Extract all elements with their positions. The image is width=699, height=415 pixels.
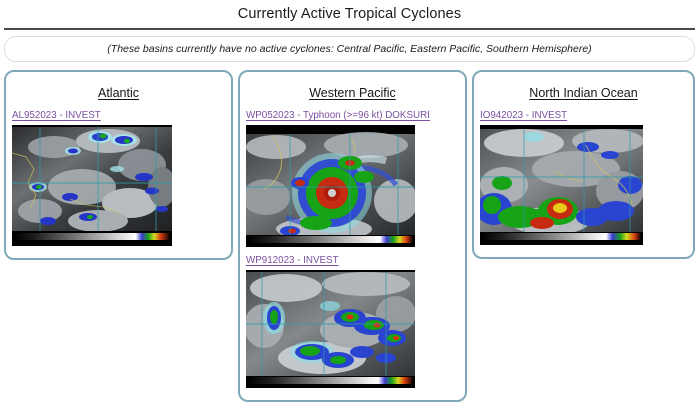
satellite-image-wp052023[interactable] (246, 125, 415, 247)
inactive-basins-notice: (These basins currently have no active c… (4, 36, 695, 62)
basin-panel-atlantic: Atlantic AL952023 - INVEST (4, 70, 233, 260)
storm-link-io942023[interactable]: IO942023 - INVEST (480, 110, 567, 122)
storm-entry-al952023: AL952023 - INVEST (12, 110, 225, 246)
active-tropical-cyclones-page: Currently Active Tropical Cyclones (Thes… (0, 0, 699, 415)
page-title: Currently Active Tropical Cyclones (0, 0, 699, 28)
storm-entry-wp912023: WP912023 - INVEST (246, 255, 459, 388)
satellite-image-io942023[interactable] (480, 125, 643, 245)
title-divider (4, 28, 695, 30)
satellite-image-wp912023[interactable] (246, 270, 415, 388)
inactive-basins-notice-text: (These basins currently have no active c… (107, 43, 591, 55)
basin-title-atlantic: Atlantic (98, 86, 139, 100)
storm-link-wp052023[interactable]: WP052023 - Typhoon (>=96 kt) DOKSURI (246, 110, 430, 122)
basin-panel-north-indian-ocean: North Indian Ocean IO942023 - INVEST (472, 70, 695, 259)
basin-panels-container: Atlantic AL952023 - INVEST (0, 62, 699, 402)
storm-entry-io942023: IO942023 - INVEST (480, 110, 687, 245)
storm-entry-wp052023: WP052023 - Typhoon (>=96 kt) DOKSURI (246, 110, 459, 247)
satellite-image-al952023[interactable] (12, 125, 172, 246)
storm-link-wp912023[interactable]: WP912023 - INVEST (246, 255, 339, 267)
basin-panel-western-pacific: Western Pacific WP052023 - Typhoon (>=96… (238, 70, 467, 402)
storm-link-al952023[interactable]: AL952023 - INVEST (12, 110, 101, 122)
basin-title-north-indian-ocean: North Indian Ocean (529, 86, 637, 100)
basin-title-western-pacific: Western Pacific (309, 86, 396, 100)
